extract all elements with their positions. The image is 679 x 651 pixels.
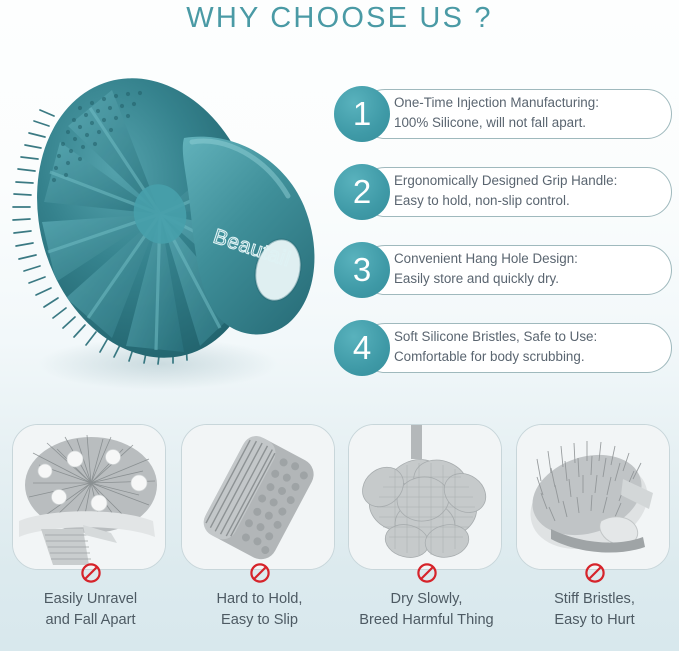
mesh-shower-pouf-photo	[349, 425, 502, 570]
caption-line-2: Breed Harmful Thing	[344, 610, 509, 631]
feature-number-badge: 1	[334, 86, 390, 142]
caption-line-2: and Fall Apart	[8, 610, 173, 631]
comparison-image-frame	[348, 424, 502, 570]
feature-subtext: Comfortable for body scrubbing.	[394, 347, 660, 367]
ban-icon	[249, 562, 271, 584]
ban-icon	[416, 562, 438, 584]
feature-item-2[interactable]: 2 Ergonomically Designed Grip Handle: Ea…	[334, 164, 674, 220]
feature-subtext: 100% Silicone, will not fall apart.	[394, 113, 660, 133]
caption-line-1: Stiff Bristles,	[512, 589, 677, 610]
feature-list: 1 One-Time Injection Manufacturing: 100%…	[334, 86, 674, 398]
page-title: WHY CHOOSE US ?	[0, 2, 679, 35]
ban-icon	[584, 562, 606, 584]
comparison-item: Hard to Hold, Easy to Slip	[177, 424, 342, 651]
comparison-image-frame	[516, 424, 670, 570]
feature-item-4[interactable]: 4 Soft Silicone Bristles, Safe to Use: C…	[334, 320, 674, 376]
feature-text: Convenient Hang Hole Design: Easily stor…	[394, 249, 660, 289]
feature-item-3[interactable]: 3 Convenient Hang Hole Design: Easily st…	[334, 242, 674, 298]
why-choose-us-infographic: WHY CHOOSE US ?	[0, 0, 679, 651]
natural-bristle-brush-photo	[517, 425, 670, 570]
feature-subtext: Easily store and quickly dry.	[394, 269, 660, 289]
feature-text: One-Time Injection Manufacturing: 100% S…	[394, 93, 660, 133]
feature-heading: Convenient Hang Hole Design:	[394, 249, 660, 269]
caption-line-1: Hard to Hold,	[177, 589, 342, 610]
caption-line-2: Easy to Slip	[177, 610, 342, 631]
comparison-item: Easily Unravel and Fall Apart	[8, 424, 173, 651]
feature-heading: Ergonomically Designed Grip Handle:	[394, 171, 660, 191]
silicone-scrubber-pad-photo	[182, 425, 335, 570]
ban-icon	[80, 562, 102, 584]
comparison-item: Dry Slowly, Breed Harmful Thing	[344, 424, 509, 651]
comparison-caption: Dry Slowly, Breed Harmful Thing	[344, 589, 509, 631]
comparison-caption: Easily Unravel and Fall Apart	[8, 589, 173, 631]
comparison-caption: Stiff Bristles, Easy to Hurt	[512, 589, 677, 631]
caption-line-1: Easily Unravel	[8, 589, 173, 610]
feature-number-badge: 2	[334, 164, 390, 220]
comparison-item: Stiff Bristles, Easy to Hurt	[512, 424, 677, 651]
feature-heading: One-Time Injection Manufacturing:	[394, 93, 660, 113]
caption-line-2: Easy to Hurt	[512, 610, 677, 631]
feature-heading: Soft Silicone Bristles, Safe to Use:	[394, 327, 660, 347]
caption-line-1: Dry Slowly,	[344, 589, 509, 610]
comparison-caption: Hard to Hold, Easy to Slip	[177, 589, 342, 631]
loofah-bristle-brush-photo	[13, 425, 166, 570]
comparison-strip: Easily Unravel and Fall Apart	[0, 424, 679, 651]
feature-item-1[interactable]: 1 One-Time Injection Manufacturing: 100%…	[334, 86, 674, 142]
feature-text: Ergonomically Designed Grip Handle: Easy…	[394, 171, 660, 211]
product-image: Beautail	[8, 46, 338, 396]
product-illustration: Beautail	[8, 46, 338, 396]
comparison-image-frame	[181, 424, 335, 570]
feature-number-badge: 4	[334, 320, 390, 376]
comparison-image-frame	[12, 424, 166, 570]
feature-subtext: Easy to hold, non-slip control.	[394, 191, 660, 211]
feature-number-badge: 3	[334, 242, 390, 298]
feature-text: Soft Silicone Bristles, Safe to Use: Com…	[394, 327, 660, 367]
